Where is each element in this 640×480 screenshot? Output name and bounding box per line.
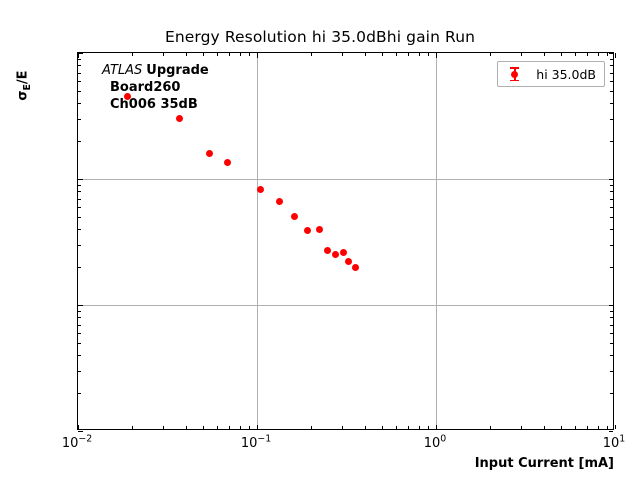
y-axis-minor-tick-right [610,73,613,74]
y-axis-minor-tick [78,119,81,120]
y-axis-minor-tick [78,73,81,74]
x-axis-minor-tick-top [561,53,562,56]
y-axis-minor-tick [78,343,81,344]
x-axis-minor-tick [587,426,588,429]
y-axis-minor-tick [78,371,81,372]
x-axis-minor-tick [311,426,312,429]
y-gridline [78,179,613,180]
x-axis-tick-label: 101 [603,436,626,451]
x-axis-minor-tick-top [587,53,588,56]
x-axis-major-tick [257,425,258,430]
y-axis-minor-tick [78,191,81,192]
y-axis-minor-tick-right [610,267,613,268]
x-axis-minor-tick [544,426,545,429]
data-point [324,247,331,254]
x-axis-minor-tick [132,426,133,429]
page-title: Energy Resolution hi 35.0dBhi gain Run [0,28,640,46]
y-axis-minor-tick-right [610,355,613,356]
legend: hi 35.0dB [497,61,605,87]
y-axis-minor-tick-right [610,191,613,192]
y-axis-minor-tick [78,65,81,66]
x-axis-minor-tick [521,426,522,429]
data-point [345,258,352,265]
x-axis-minor-tick-top [382,53,383,56]
x-axis-tick-label: 10−1 [241,436,271,451]
x-axis-minor-tick [490,426,491,429]
y-axis-minor-tick-right [610,393,613,394]
y-axis-title-text: σE/E [16,70,31,100]
y-axis-minor-tick-right [610,333,613,334]
y-axis-minor-tick-right [610,91,613,92]
x-axis-minor-tick-top [598,53,599,56]
x-axis-minor-tick-top [132,53,133,56]
y-axis-minor-tick-right [610,141,613,142]
y-axis-minor-tick [78,217,81,218]
y-axis-minor-tick [78,229,81,230]
x-axis-minor-tick [249,426,250,429]
x-axis-minor-tick [396,426,397,429]
y-axis-minor-tick-right [610,81,613,82]
annotation-upgrade-text: Upgrade [146,63,208,78]
y-axis-major-tick-right [609,431,614,432]
data-point [276,198,283,205]
x-axis-minor-tick-top [342,53,343,56]
y-axis-minor-tick-right [610,371,613,372]
x-axis-minor-tick-top [544,53,545,56]
x-axis-minor-tick-top [229,53,230,56]
y-axis-minor-tick-right [610,207,613,208]
annotation-line-1: ATLAS Upgrade [102,62,209,80]
y-axis-minor-tick-right [610,65,613,66]
x-axis-minor-tick [408,426,409,429]
data-point [224,159,231,166]
y-axis-major-tick-right [609,179,614,180]
x-axis-minor-tick-top [365,53,366,56]
x-gridline [257,53,258,429]
data-point [304,227,311,234]
annotation-channel-text: Ch006 35dB [102,97,209,114]
y-axis-minor-tick [78,207,81,208]
x-axis-major-tick-top [257,53,258,58]
annotation-board-text: Board260 [102,80,209,97]
x-axis-minor-tick-top [408,53,409,56]
y-axis-minor-tick-right [610,325,613,326]
x-axis-minor-tick [163,426,164,429]
y-axis-minor-tick-right [610,229,613,230]
x-axis-tick-label: 10−2 [62,436,92,451]
x-axis-minor-tick-top [419,53,420,56]
data-point [340,249,347,256]
y-axis-minor-tick-right [610,103,613,104]
y-axis-minor-tick-right [610,245,613,246]
x-axis-minor-tick [365,426,366,429]
x-axis-major-tick-top [615,53,616,58]
x-axis-minor-tick [607,426,608,429]
y-axis-minor-tick [78,103,81,104]
y-axis-minor-tick [78,393,81,394]
x-axis-tick-label: 100 [424,436,447,451]
x-axis-minor-tick-top [575,53,576,56]
x-axis-minor-tick-top [428,53,429,56]
x-axis-minor-tick-top [249,53,250,56]
x-axis-minor-tick [428,426,429,429]
x-axis-minor-tick-top [186,53,187,56]
data-point [291,213,298,220]
data-point [176,115,183,122]
y-axis-minor-tick-right [610,185,613,186]
x-axis-minor-tick [203,426,204,429]
y-axis-minor-tick [78,91,81,92]
x-axis-major-tick [615,425,616,430]
x-axis-minor-tick [382,426,383,429]
x-axis-minor-tick [217,426,218,429]
x-axis-minor-tick-top [311,53,312,56]
y-axis-minor-tick [78,59,81,60]
y-axis-minor-tick [78,141,81,142]
annotation-atlas-text: ATLAS [102,63,142,78]
data-point [206,150,213,157]
x-axis-minor-tick [229,426,230,429]
x-axis-minor-tick [240,426,241,429]
y-axis-minor-tick-right [610,119,613,120]
x-axis-major-tick [436,425,437,430]
y-axis-minor-tick [78,199,81,200]
y-gridline [78,305,613,306]
x-axis-minor-tick-top [163,53,164,56]
y-axis-minor-tick [78,325,81,326]
y-axis-major-tick [78,305,83,306]
data-point [332,251,339,258]
y-axis-title: σE/E [14,52,32,430]
y-axis-major-tick [78,431,83,432]
x-axis-minor-tick [342,426,343,429]
x-axis-minor-tick [575,426,576,429]
x-axis-minor-tick-top [490,53,491,56]
y-axis-minor-tick [78,311,81,312]
y-axis-minor-tick-right [610,59,613,60]
y-axis-minor-tick [78,355,81,356]
x-axis-minor-tick [186,426,187,429]
x-axis-minor-tick [419,426,420,429]
y-axis-minor-tick [78,267,81,268]
y-axis-minor-tick [78,185,81,186]
legend-marker-icon [504,66,526,82]
y-axis-minor-tick-right [610,199,613,200]
x-axis-minor-tick [561,426,562,429]
x-axis-title: Input Current [mA] [0,456,614,471]
y-axis-minor-tick-right [610,343,613,344]
x-gridline [436,53,437,429]
x-axis-minor-tick-top [240,53,241,56]
annotation-block: ATLAS Upgrade Board260 Ch006 35dB [102,62,209,114]
x-axis-minor-tick-top [217,53,218,56]
y-axis-minor-tick-right [610,311,613,312]
data-point [316,226,323,233]
legend-label: hi 35.0dB [536,67,596,82]
data-point [257,186,264,193]
x-axis-minor-tick [598,426,599,429]
x-axis-major-tick-top [78,53,79,58]
y-axis-minor-tick [78,245,81,246]
x-axis-major-tick-top [436,53,437,58]
y-axis-major-tick-right [609,53,614,54]
x-axis-major-tick [78,425,79,430]
x-axis-minor-tick-top [396,53,397,56]
x-axis-minor-tick-top [521,53,522,56]
y-axis-minor-tick [78,333,81,334]
y-axis-major-tick [78,179,83,180]
y-axis-minor-tick [78,317,81,318]
y-axis-major-tick-right [609,305,614,306]
x-axis-minor-tick-top [203,53,204,56]
figure-canvas: Energy Resolution hi 35.0dBhi gain Run σ… [0,0,640,480]
y-axis-minor-tick-right [610,217,613,218]
y-axis-minor-tick-right [610,317,613,318]
y-axis-minor-tick [78,81,81,82]
data-point [352,264,359,271]
